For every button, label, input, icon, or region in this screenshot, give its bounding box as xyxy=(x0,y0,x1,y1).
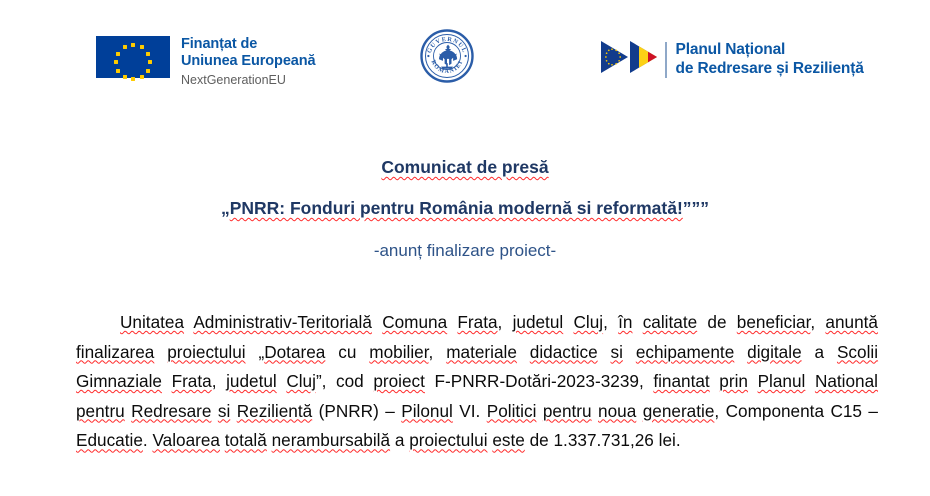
document-title: Comunicat de presă xyxy=(0,157,930,178)
document-subtitle: „PNRR: Fonduri pentru România modernă si… xyxy=(0,198,930,219)
body-word: Unitatea xyxy=(120,312,184,332)
body-word: noua xyxy=(598,401,636,421)
body-word: pentru xyxy=(543,401,592,421)
body-dash: – xyxy=(385,401,395,421)
eu-logo-line-3: NextGenerationEU xyxy=(181,73,315,88)
body-punct: , xyxy=(714,401,719,421)
body-word: Comuna xyxy=(382,312,447,332)
body-word: a xyxy=(395,430,405,450)
body-word: generatie xyxy=(643,401,715,421)
project-code: F-PNRR-Dotări-2023-3239, xyxy=(435,371,644,391)
eu-logo-line-2: Uniunea Europeană xyxy=(181,53,315,70)
document-title-text: Comunicat de presă xyxy=(381,157,548,177)
body-word: în xyxy=(618,312,632,332)
body-word: C15 xyxy=(830,401,862,421)
body-word: Dotarea xyxy=(264,342,325,362)
body-word: judetul xyxy=(226,371,277,391)
body-word: Scolii xyxy=(837,342,878,362)
body-punct: , xyxy=(212,371,217,391)
body-word: finalizarea xyxy=(76,342,154,362)
subtitle-main-text: PNRR: Fonduri pentru România modernă si … xyxy=(230,198,683,218)
body-word: Administrativ-Teritorială xyxy=(193,312,372,332)
header-logo-strip: Finanțat de Uniunea Europeană NextGenera… xyxy=(0,0,930,110)
government-of-romania-seal-icon: GUVERNUL ROMÂNIEI xyxy=(420,29,474,83)
body-word: proiectului xyxy=(409,430,487,450)
body-word: Frata xyxy=(457,312,497,332)
body-word: Gimnaziale xyxy=(76,371,162,391)
body-word: VI. xyxy=(459,401,480,421)
subtitle-close-quote: ””” xyxy=(683,198,709,218)
body-word: judetul xyxy=(513,312,564,332)
body-word: Redresare xyxy=(131,401,211,421)
body-word: a xyxy=(815,342,825,362)
body-word: de xyxy=(707,312,726,332)
body-punct: , xyxy=(810,312,815,332)
document-content: Comunicat de presă „PNRR: Fonduri pentru… xyxy=(0,110,930,456)
body-word: beneficiar xyxy=(737,312,811,332)
project-value: 1.337.731,26 xyxy=(554,430,654,450)
body-word: Componenta xyxy=(726,401,824,421)
body-word: didactice xyxy=(530,342,598,362)
body-word: digitale xyxy=(747,342,801,362)
body-punct: , xyxy=(429,342,434,362)
announcement-line: -anunț finalizare proiect- xyxy=(0,241,930,261)
body-word: este xyxy=(492,430,525,450)
body-word: prin xyxy=(719,371,748,391)
body-word: proiect xyxy=(373,371,425,391)
body-dash: – xyxy=(868,401,878,421)
eu-funding-logo: Finanțat de Uniunea Europeană NextGenera… xyxy=(96,36,315,87)
body-word: Cluj xyxy=(573,312,603,332)
body-punct: , xyxy=(603,312,608,332)
pnrr-arrows-icon xyxy=(600,38,660,81)
body-punct: , xyxy=(498,312,503,332)
body-quote-close: ”, xyxy=(316,371,327,391)
body-word: cod xyxy=(336,371,364,391)
body-word: Pilonul xyxy=(401,401,453,421)
body-word: totală xyxy=(225,430,267,450)
pnrr-logo: Planul Național de Redresare și Rezilien… xyxy=(600,38,864,81)
body-word: Politici xyxy=(487,401,537,421)
eu-flag-icon xyxy=(96,36,170,78)
currency-unit: lei. xyxy=(659,430,681,450)
body-word: Cluj xyxy=(286,371,316,391)
body-punct: . xyxy=(143,430,148,450)
pnrr-logo-line-2: de Redresare și Reziliență xyxy=(676,60,864,79)
body-word: si xyxy=(218,401,230,421)
pnrr-logo-line-1: Planul Național xyxy=(676,41,864,60)
body-word: echipamente xyxy=(636,342,734,362)
body-word: Planul xyxy=(758,371,806,391)
body-word: si xyxy=(611,342,623,362)
body-word: Rezilientă xyxy=(237,401,312,421)
body-word: finantat xyxy=(653,371,709,391)
pnrr-logo-divider xyxy=(665,42,667,78)
body-word: Frata xyxy=(172,371,212,391)
body-word: de xyxy=(530,430,549,450)
body-word: Educatie xyxy=(76,430,143,450)
body-word: cu xyxy=(338,342,356,362)
subtitle-open-quote: „ xyxy=(221,198,230,218)
body-word: pentru xyxy=(76,401,125,421)
eu-logo-line-1: Finanțat de xyxy=(181,36,315,53)
body-word: nerambursabilă xyxy=(272,430,390,450)
body-word: mobilier xyxy=(369,342,428,362)
body-paragraph: Unitatea Administrativ-Teritorială Comun… xyxy=(0,308,930,456)
body-word: (PNRR) xyxy=(319,401,379,421)
body-word: National xyxy=(815,371,878,391)
body-word: Valoarea xyxy=(152,430,220,450)
body-word: anuntă xyxy=(825,312,878,332)
body-word: materiale xyxy=(446,342,517,362)
body-word: proiectului xyxy=(167,342,245,362)
body-word: calitate xyxy=(643,312,697,332)
